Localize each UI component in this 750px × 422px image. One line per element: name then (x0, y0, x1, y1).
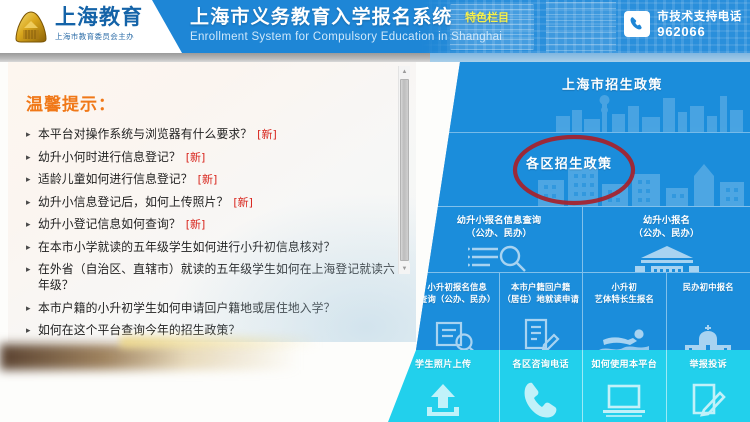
tile-label: 小升初报名信息查询（公办、民办） (416, 282, 498, 305)
tile-label: 民办初中报名 (680, 282, 737, 294)
school-building-icon (583, 244, 750, 272)
bullet-arrow-icon: ▸ (26, 261, 38, 277)
list-search-icon (416, 242, 582, 272)
tile-how-to-use-platform[interactable]: 如何使用本平台 (583, 350, 667, 422)
bullet-arrow-icon: ▸ (26, 171, 38, 187)
swimmer-icon (583, 327, 666, 350)
tech-support-block: 市技术支持电话 962066 (624, 8, 742, 40)
tile-district-hotlines[interactable]: 各区咨询电话 (500, 350, 584, 422)
tips-list-item[interactable]: ▸本市户籍的小升初学生如何申请回户籍地或居住地入学？ (26, 300, 396, 316)
nav-item-city-policy-label: 上海市招生政策 (562, 74, 663, 93)
bullet-arrow-icon: ▸ (26, 126, 38, 142)
telephone-handset-icon (624, 11, 650, 37)
new-badge: [新] (186, 218, 206, 231)
phone-icon (500, 380, 583, 420)
new-badge: [新] (233, 196, 253, 209)
system-title-cn: 上海市义务教育入学报名系统 (190, 5, 453, 29)
logo-title: 上海教育 (55, 4, 143, 30)
bullet-arrow-icon: ▸ (26, 216, 38, 232)
report-pencil-icon (667, 380, 750, 420)
tile-household-transfer-application[interactable]: 本市户籍回户籍（居住）地就读申请 (500, 273, 584, 350)
tips-list-item-label: 幼升小信息登记后，如何上传照片？ (38, 195, 228, 209)
logo-subtitle: 上海市教育委员会主办 (55, 31, 143, 42)
school-gate-icon (667, 325, 750, 350)
tips-list-item-label: 在外省（自治区、直辖市）就读的五年级学生如何在上海登记就读六年级？ (38, 262, 395, 292)
tips-list-item[interactable]: ▸幼升小登记信息如何查询？[新] (26, 216, 396, 232)
new-badge: [新] (198, 173, 218, 186)
form-pencil-icon (500, 317, 583, 350)
service-tile-row: 幼升小报名信息查询（公办、民办） (416, 207, 750, 272)
tile-label: 如何使用本平台 (591, 359, 657, 371)
new-badge: [新] (257, 128, 277, 141)
tips-list-item[interactable]: ▸在本市小学就读的五年级学生如何进行小升初信息核对？ (26, 239, 396, 255)
bullet-arrow-icon: ▸ (26, 300, 38, 316)
tips-panel-title: 温馨提示： (26, 90, 116, 115)
tile-label: 各区咨询电话 (513, 359, 569, 371)
bullet-arrow-icon: ▸ (26, 239, 38, 255)
tips-list-item-label: 幼升小登记信息如何查询？ (38, 217, 181, 231)
tile-primary-enrollment-query[interactable]: 幼升小报名信息查询（公办、民办） (416, 207, 583, 272)
screenshot-root: 上海教育 上海市教育委员会主办 上海市义务教育入学报名系统 特色栏目 Enrol… (0, 0, 750, 422)
system-title-en: Enrollment System for Compulsory Educati… (190, 30, 509, 45)
tips-panel: 温馨提示： ▸本平台对操作系统与浏览器有什么要求？[新]▸幼升小何时进行信息登记… (8, 62, 416, 342)
scrollbar-up-arrow[interactable]: ▲ (399, 66, 410, 77)
document-search-icon (416, 319, 499, 350)
tips-list-item-label: 本市户籍的小升初学生如何申请回户籍地或居住地入学？ (38, 301, 335, 315)
bullet-arrow-icon: ▸ (26, 322, 38, 338)
tips-list-item[interactable]: ▸在外省（自治区、直辖市）就读的五年级学生如何在上海登记就读六年级？ (26, 261, 396, 293)
tile-label: 幼升小报名信息查询（公办、民办） (454, 215, 545, 240)
support-label: 市技术支持电话 (657, 8, 742, 24)
tips-list-item-label: 本平台对操作系统与浏览器有什么要求？ (38, 127, 252, 141)
tile-private-junior-registration[interactable]: 民办初中报名 (667, 273, 750, 350)
nav-item-city-policy[interactable]: 上海市招生政策 (416, 62, 750, 132)
tile-label: 本市户籍回户籍（居住）地就读申请 (500, 282, 582, 305)
tile-arts-sports-talent-registration[interactable]: 小升初艺体特长生报名 (583, 273, 667, 350)
tips-list-item[interactable]: ▸本平台对操作系统与浏览器有什么要求？[新] (26, 126, 396, 142)
tips-list: ▸本平台对操作系统与浏览器有什么要求？[新]▸幼升小何时进行信息登记？[新]▸适… (26, 126, 396, 338)
tile-primary-enrollment-apply[interactable]: 幼升小报名（公办、民办） (583, 207, 750, 272)
quick-links-bar: 学生照片上传 各区咨询电话 如何使用本平台 (388, 350, 750, 422)
tile-label: 幼升小报名（公办、民办） (631, 215, 703, 240)
tile-report-complaint[interactable]: 举报投诉 (667, 350, 750, 422)
scrollbar-down-arrow[interactable]: ▼ (399, 263, 410, 274)
tips-panel-scrollbar[interactable]: ▲ ▼ (398, 66, 409, 274)
feature-column-badge: 特色栏目 (465, 9, 509, 25)
service-tile-row: 小升初报名信息查询（公办、民办） (416, 272, 750, 350)
tile-label: 小升初艺体特长生报名 (592, 282, 657, 305)
header-divider-bar (0, 53, 750, 62)
tips-list-item[interactable]: ▸幼升小何时进行信息登记？[新] (26, 149, 396, 165)
site-header: 上海教育 上海市教育委员会主办 上海市义务教育入学报名系统 特色栏目 Enrol… (0, 0, 750, 53)
tech-support-text: 市技术支持电话 962066 (657, 8, 742, 40)
bullet-arrow-icon: ▸ (26, 194, 38, 210)
support-phone-number: 962066 (657, 24, 742, 40)
shanghai-education-shield-logo (12, 8, 50, 46)
system-title-block: 上海市义务教育入学报名系统 特色栏目 Enrollment System for… (190, 5, 509, 45)
scrollbar-thumb[interactable] (400, 79, 409, 261)
services-panel: 上海市招生政策 (416, 62, 750, 350)
tips-list-item-label: 在本市小学就读的五年级学生如何进行小升初信息核对？ (38, 240, 335, 254)
tips-list-item-label: 适龄儿童如何进行信息登记？ (38, 172, 193, 186)
upload-arrow-icon (388, 380, 499, 420)
service-tile-grid: 幼升小报名信息查询（公办、民办） (416, 207, 750, 350)
tile-label: 学生照片上传 (415, 359, 471, 371)
site-logo-text: 上海教育 上海市教育委员会主办 (55, 4, 143, 42)
tile-junior-enrollment-query[interactable]: 小升初报名信息查询（公办、民办） (416, 273, 500, 350)
background-blur-streak-highlight (120, 336, 320, 348)
nav-item-district-policy-label: 各区招生政策 (526, 153, 612, 172)
tile-student-photo-upload[interactable]: 学生照片上传 (388, 350, 500, 422)
tips-list-item-label: 幼升小何时进行信息登记？ (38, 150, 181, 164)
tile-label: 举报投诉 (689, 359, 727, 371)
header-divider-bar-blue (430, 53, 750, 62)
nav-item-district-policy[interactable]: 各区招生政策 (416, 133, 750, 206)
laptop-icon (583, 382, 666, 420)
new-badge: [新] (186, 151, 206, 164)
tips-list-item[interactable]: ▸幼升小信息登记后，如何上传照片？[新] (26, 194, 396, 210)
tips-list-item-label: 如何在这个平台查询今年的招生政策？ (38, 323, 240, 337)
bullet-arrow-icon: ▸ (26, 149, 38, 165)
tips-list-item[interactable]: ▸适龄儿童如何进行信息登记？[新] (26, 171, 396, 187)
